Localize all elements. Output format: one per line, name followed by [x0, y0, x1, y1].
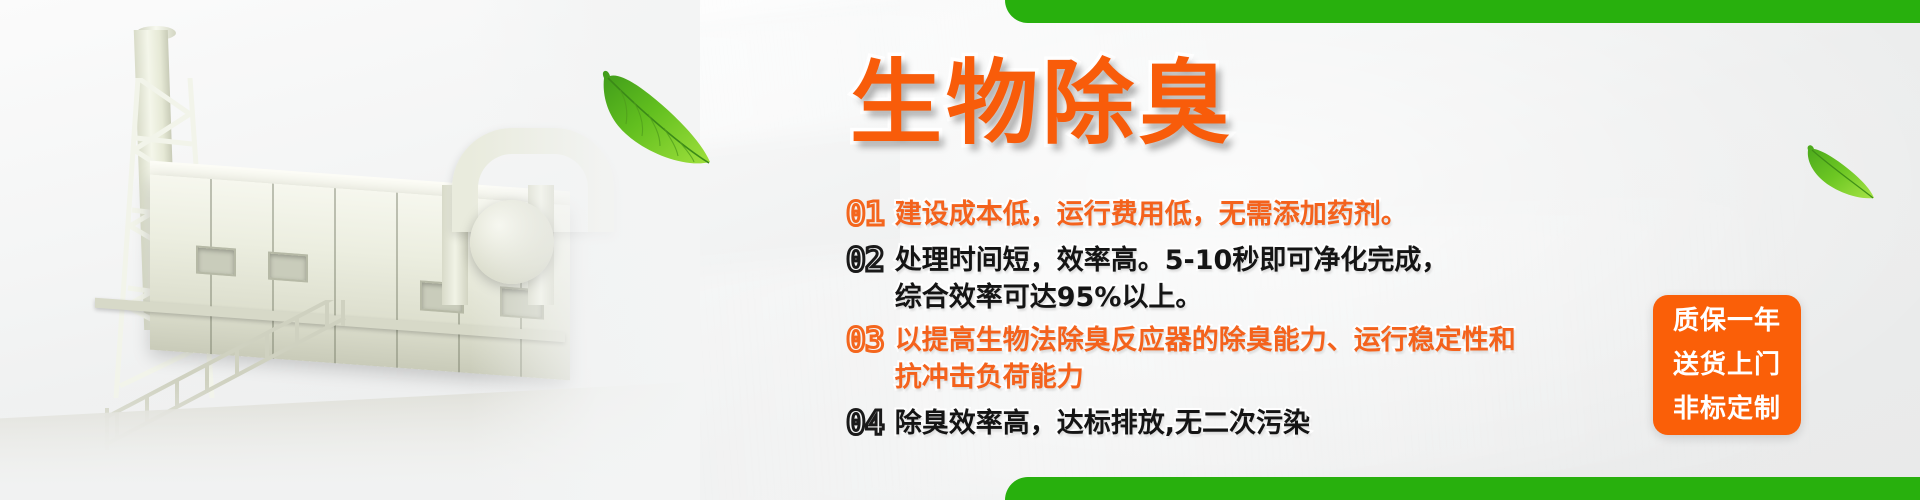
list-item: 02 处理时间短，效率高。5-10秒即可净化完成， 综合效率可达95%以上。: [846, 242, 1606, 316]
list-item-number: 02: [846, 242, 884, 278]
page-title: 生物除臭: [850, 58, 1234, 150]
list-item: 03 以提高生物法除臭反应器的除臭能力、运行稳定性和 抗冲击负荷能力: [846, 322, 1606, 396]
leaf-icon: [582, 62, 722, 186]
leaf-icon: [1800, 140, 1878, 208]
guarantee-badge: 质保一年 送货上门 非标定制: [1653, 295, 1801, 435]
list-item: 04 除臭效率高，达标排放,无二次污染: [846, 405, 1606, 442]
list-item-text: 以提高生物法除臭反应器的除臭能力、运行稳定性和 抗冲击负荷能力: [895, 322, 1516, 396]
badge-line-delivery: 送货上门: [1673, 343, 1781, 387]
badge-line-warranty: 质保一年: [1673, 299, 1781, 343]
list-item-text: 建设成本低，运行费用低，无需添加药剂。: [895, 196, 1408, 233]
promo-banner: 生物除臭 01 建设成本低，运行费用低，无需添加药剂。 02 处理时间短，效率高…: [0, 0, 1920, 500]
reactor-window: [196, 246, 236, 277]
green-bar-top: [1005, 0, 1920, 23]
list-item-number: 01: [846, 196, 884, 232]
list-item-text: 处理时间短，效率高。5-10秒即可净化完成， 综合效率可达95%以上。: [895, 242, 1449, 316]
feature-list: 01 建设成本低，运行费用低，无需添加药剂。 02 处理时间短，效率高。5-10…: [846, 196, 1606, 442]
list-item: 01 建设成本低，运行费用低，无需添加药剂。: [846, 196, 1606, 233]
green-bar-bottom: [1005, 477, 1920, 500]
badge-line-custom: 非标定制: [1673, 387, 1781, 431]
reactor-window: [268, 252, 308, 283]
list-item-number: 04: [846, 405, 884, 441]
list-item-number: 03: [846, 322, 884, 358]
list-item-text: 除臭效率高，达标排放,无二次污染: [895, 405, 1310, 442]
